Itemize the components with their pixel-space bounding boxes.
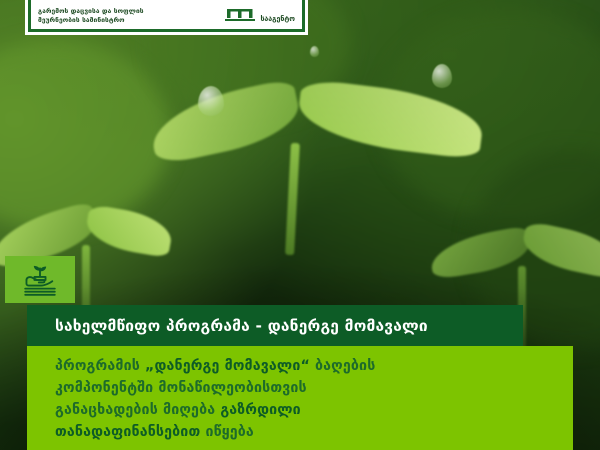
description-line: პროგრამის „დანერგე მომავალი“ ბაღების [55,355,573,377]
agency-logo-group: სააგენტო [225,8,295,25]
poster-canvas: გარემოს დაცვისა და სოფლის მეურნეობის სამ… [0,0,600,450]
agency-logo-mark-icon [225,8,255,24]
hand-holding-sprout-icon [20,264,60,296]
description-emphasis: გაზრდილი [220,402,300,418]
description-segment: კომპონენტში მონაწილეობისთვის [55,380,307,396]
description-line: კომპონენტში მონაწილეობისთვის [55,377,573,399]
description-emphasis: „დანერგე მომავალი“ [145,358,310,374]
ministry-header-box: გარემოს დაცვისა და სოფლის მეურნეობის სამ… [28,0,305,32]
program-description-text: პროგრამის „დანერგე მომავალი“ ბაღებისკომპ… [55,355,573,443]
description-segment: ბაღების [310,358,375,374]
program-description-banner: პროგრამის „დანერგე მომავალი“ ბაღებისკომპ… [27,346,573,450]
description-emphasis: თანადაფინანსებით [55,424,200,440]
ministry-line-2: მეურნეობის სამინისტრო [38,16,225,25]
description-line: განაცხადების მიღება გაზრდილი [55,399,573,421]
ministry-name: გარემოს დაცვისა და სოფლის მეურნეობის სამ… [38,7,225,25]
agency-label: სააგენტო [260,15,295,24]
program-title: სახელმწიფო პროგრამა - დანერგე მომავალი [27,317,428,335]
program-title-banner: სახელმწიფო პროგრამა - დანერგე მომავალი [27,305,523,346]
description-segment: განაცხადების მიღება [55,402,220,418]
description-segment: პროგრამის [55,358,145,374]
description-line: თანადაფინანსებით იწყება [55,421,573,443]
ministry-line-1: გარემოს დაცვისა და სოფლის [38,7,225,16]
description-segment: იწყება [200,424,254,440]
program-badge [5,256,75,303]
